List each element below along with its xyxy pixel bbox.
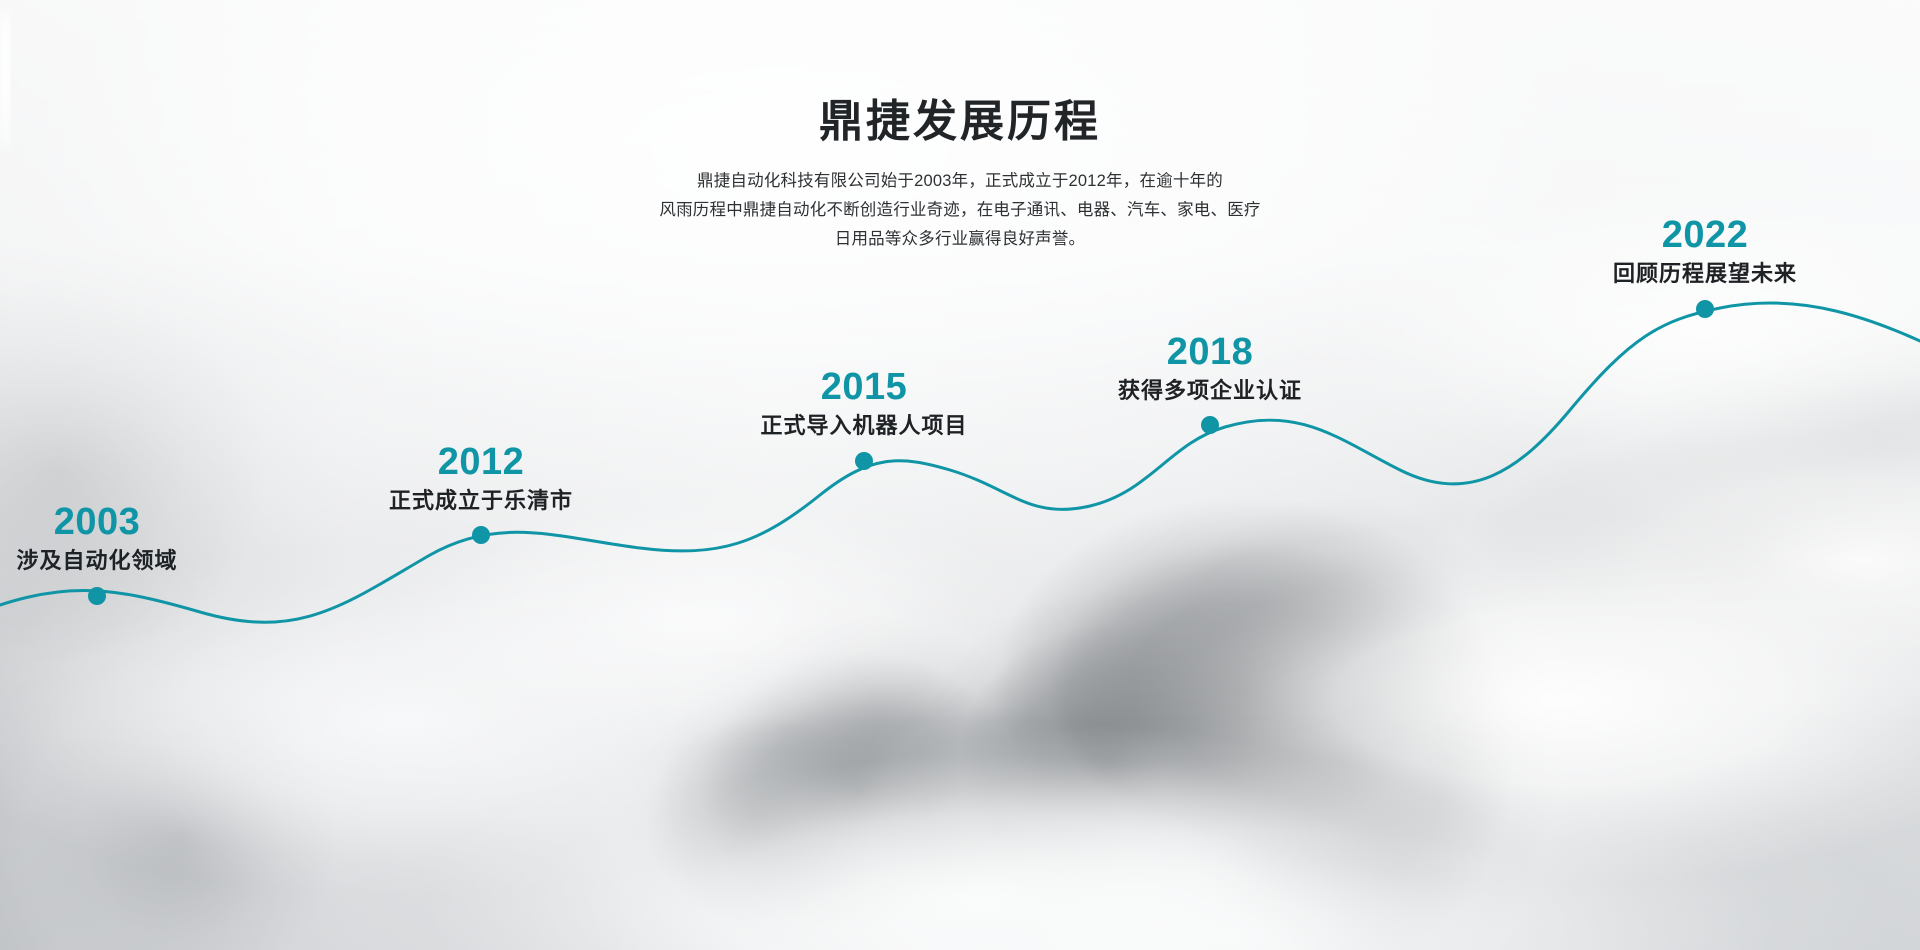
milestone-desc-2015: 正式导入机器人项目 xyxy=(760,412,967,441)
timeline-infographic: 鼎捷发展历程 鼎捷自动化科技有限公司始于2003年，正式成立于2012年，在逾十… xyxy=(0,0,1920,950)
subtitle-line-1: 鼎捷自动化科技有限公司始于2003年，正式成立于2012年，在逾十年的 xyxy=(580,167,1340,196)
milestone-desc-2003: 涉及自动化领域 xyxy=(16,547,177,576)
background-sky xyxy=(0,0,1920,950)
page-title: 鼎捷发展历程 xyxy=(0,0,1920,149)
timeline-dot-group xyxy=(88,300,1714,605)
timeline-curve-path xyxy=(0,303,1920,622)
milestone-2003[interactable]: 2003涉及自动化领域 xyxy=(16,503,177,575)
milestone-year-2003: 2003 xyxy=(16,503,177,543)
subtitle-line-2: 风雨历程中鼎捷自动化不断创造行业奇迹，在电子通讯、电器、汽车、家电、医疗 xyxy=(580,196,1340,225)
timeline-curve xyxy=(0,0,1920,950)
milestone-2012[interactable]: 2012正式成立于乐清市 xyxy=(389,443,573,515)
timeline-dot-2018[interactable] xyxy=(1201,416,1219,434)
timeline-dot-2022[interactable] xyxy=(1696,300,1714,318)
milestone-year-2012: 2012 xyxy=(389,443,573,483)
background-ridge-right xyxy=(0,0,1920,950)
background-cliff-left xyxy=(0,0,1920,950)
timeline-dot-2003[interactable] xyxy=(88,587,106,605)
timeline-dot-2012[interactable] xyxy=(472,526,490,544)
background-waterfall xyxy=(0,0,11,160)
milestone-year-2022: 2022 xyxy=(1613,216,1797,256)
milestone-year-2018: 2018 xyxy=(1118,333,1302,373)
background-ridge-left xyxy=(0,0,1920,950)
timeline-dot-2015[interactable] xyxy=(855,452,873,470)
milestone-year-2015: 2015 xyxy=(760,368,967,408)
background-fog-clouds xyxy=(0,0,1920,950)
background-rock-massif xyxy=(0,0,1920,950)
background-haze-bloom xyxy=(0,0,1920,950)
page-subtitle: 鼎捷自动化科技有限公司始于2003年，正式成立于2012年，在逾十年的 风雨历程… xyxy=(580,167,1340,254)
subtitle-line-3: 日用品等众多行业赢得良好声誉。 xyxy=(580,225,1340,254)
milestone-desc-2018: 获得多项企业认证 xyxy=(1118,377,1302,406)
milestone-2015[interactable]: 2015正式导入机器人项目 xyxy=(760,368,967,440)
milestone-desc-2022: 回顾历程展望未来 xyxy=(1613,260,1797,289)
milestone-2022[interactable]: 2022回顾历程展望未来 xyxy=(1613,216,1797,288)
milestone-2018[interactable]: 2018获得多项企业认证 xyxy=(1118,333,1302,405)
milestone-desc-2012: 正式成立于乐清市 xyxy=(389,487,573,516)
